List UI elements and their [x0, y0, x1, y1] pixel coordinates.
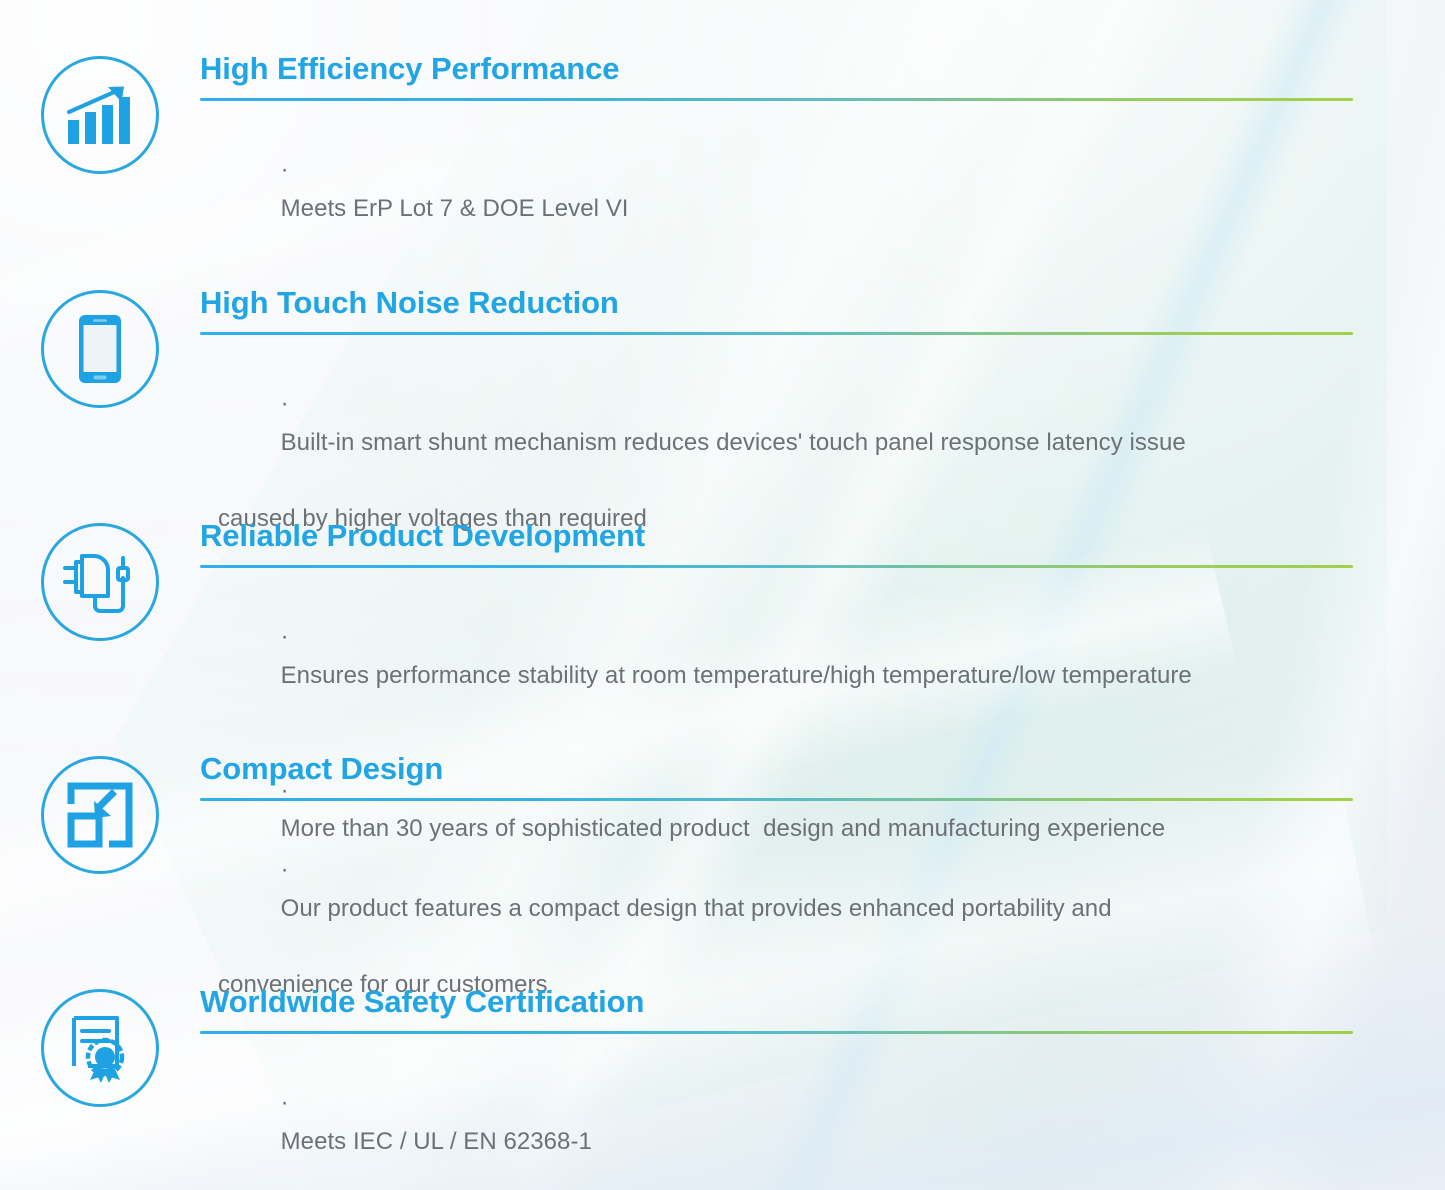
- bullet-item: · Meets ErP Lot 7 & DOE Level VI: [200, 113, 1365, 267]
- bullet-text: Ensures performance stability at room te…: [281, 662, 1192, 689]
- feature-title: High Touch Noise Reduction: [200, 286, 1365, 321]
- feature-bullets: · Meets ErP Lot 7 & DOE Level VI: [200, 113, 1365, 267]
- bullet-item: · Ensures performance stability at room …: [200, 580, 1365, 734]
- bullet-item: · Meets IEC / UL / EN 62368-1: [200, 1046, 1365, 1190]
- compact-resize-icon: [41, 756, 159, 874]
- bullet-dot: ·: [281, 856, 289, 883]
- bullet-text: Meets ErP Lot 7 & DOE Level VI: [281, 195, 629, 222]
- feature-divider: [200, 1031, 1353, 1034]
- bullet-dot: ·: [281, 1089, 289, 1116]
- feature-item-worldwide-safety-certification: Worldwide Safety Certification · Meets I…: [0, 985, 1445, 1190]
- feature-icon-wrap: [0, 52, 200, 174]
- feature-icon-wrap: [0, 985, 200, 1107]
- feature-title: Reliable Product Development: [200, 519, 1365, 554]
- feature-title: Worldwide Safety Certification: [200, 985, 1365, 1020]
- feature-divider: [200, 565, 1353, 568]
- feature-icon-wrap: [0, 286, 200, 408]
- bullet-dot: ·: [281, 156, 289, 183]
- bullet-dot: ·: [281, 390, 289, 417]
- certificate-award-icon: [41, 989, 159, 1107]
- bullet-text: Built-in smart shunt mechanism reduces d…: [281, 429, 1186, 456]
- bar-chart-growth-icon: [41, 56, 159, 174]
- bullet-text: Our product features a compact design th…: [281, 895, 1112, 922]
- bullet-dot: ·: [281, 623, 289, 650]
- feature-body: Worldwide Safety Certification · Meets I…: [200, 985, 1445, 1190]
- feature-list-page: High Efficiency Performance · Meets ErP …: [0, 0, 1445, 1190]
- feature-divider: [200, 332, 1353, 335]
- feature-icon-wrap: [0, 519, 200, 641]
- feature-divider: [200, 98, 1353, 101]
- feature-icon-wrap: [0, 752, 200, 874]
- feature-divider: [200, 798, 1353, 801]
- feature-item-high-efficiency-performance: High Efficiency Performance · Meets ErP …: [0, 52, 1445, 266]
- feature-bullets: · Meets IEC / UL / EN 62368-1: [200, 1046, 1365, 1190]
- feature-title: High Efficiency Performance: [200, 52, 1365, 87]
- feature-title: Compact Design: [200, 752, 1365, 787]
- feature-body: High Efficiency Performance · Meets ErP …: [200, 52, 1445, 266]
- power-adapter-icon: [41, 523, 159, 641]
- bullet-text: Meets IEC / UL / EN 62368-1: [281, 1128, 592, 1155]
- feature-list: High Efficiency Performance · Meets ErP …: [0, 0, 1445, 1190]
- smartphone-icon: [41, 290, 159, 408]
